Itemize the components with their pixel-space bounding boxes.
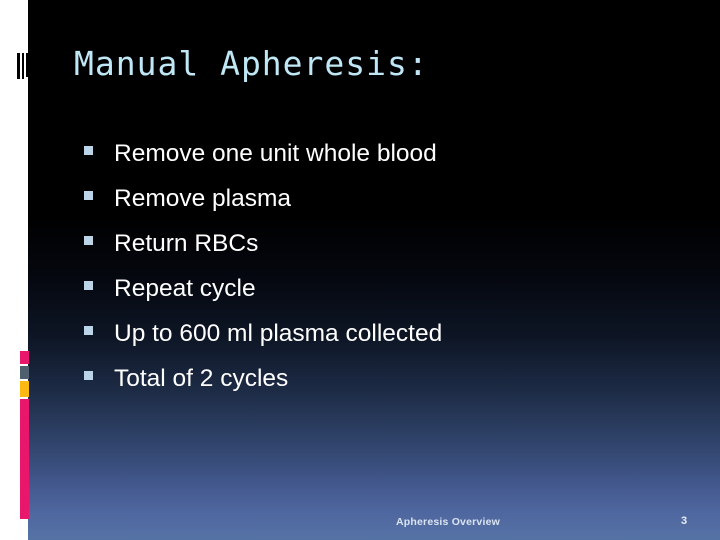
list-item: Total of 2 cycles bbox=[84, 365, 644, 410]
deco-bar-2 bbox=[22, 53, 25, 79]
slide-bullet-list: Remove one unit whole blood Remove plasm… bbox=[84, 140, 644, 410]
list-item-label: Up to 600 ml plasma collected bbox=[114, 320, 442, 348]
list-item-label: Remove plasma bbox=[114, 185, 291, 213]
square-bullet-icon bbox=[84, 146, 93, 155]
list-item-label: Repeat cycle bbox=[114, 275, 256, 303]
deco-bar-3 bbox=[26, 53, 29, 77]
presentation-slide: Manual Apheresis: Remove one unit whole … bbox=[0, 0, 720, 540]
accent-segment-pink-long bbox=[20, 399, 29, 519]
triple-bar-decoration-icon bbox=[17, 53, 29, 79]
square-bullet-icon bbox=[84, 191, 93, 200]
slide-title: Manual Apheresis: bbox=[74, 44, 429, 83]
slide-page-number: 3 bbox=[681, 515, 687, 527]
list-item: Up to 600 ml plasma collected bbox=[84, 320, 644, 365]
list-item: Return RBCs bbox=[84, 230, 644, 275]
square-bullet-icon bbox=[84, 371, 93, 380]
list-item: Repeat cycle bbox=[84, 275, 644, 320]
accent-segment-yellow bbox=[20, 381, 29, 397]
slide-footer-label: Apheresis Overview bbox=[396, 516, 500, 528]
list-item-label: Remove one unit whole blood bbox=[114, 140, 437, 168]
deco-bar-1 bbox=[17, 53, 20, 79]
list-item: Remove plasma bbox=[84, 185, 644, 230]
accent-segment-pink-top bbox=[20, 351, 29, 364]
square-bullet-icon bbox=[84, 326, 93, 335]
square-bullet-icon bbox=[84, 236, 93, 245]
list-item: Remove one unit whole blood bbox=[84, 140, 644, 185]
list-item-label: Return RBCs bbox=[114, 230, 258, 258]
accent-segment-slate bbox=[20, 366, 29, 379]
list-item-label: Total of 2 cycles bbox=[114, 365, 288, 393]
square-bullet-icon bbox=[84, 281, 93, 290]
